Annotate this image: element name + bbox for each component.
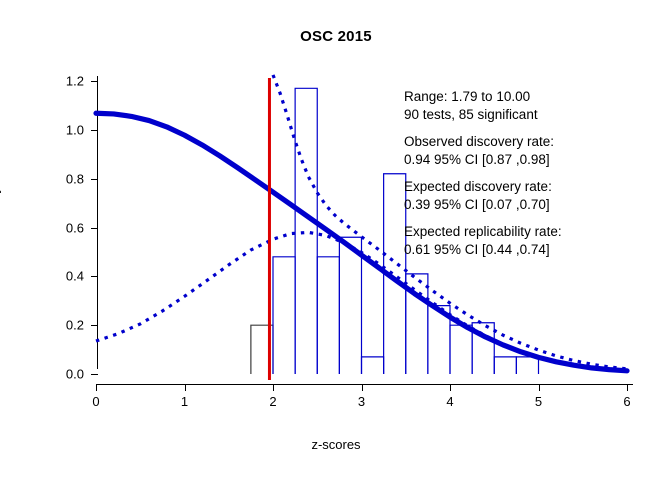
histogram-bar bbox=[494, 357, 516, 374]
annotation-line: 90 tests, 85 significant bbox=[404, 106, 654, 124]
histogram-bar bbox=[339, 237, 361, 374]
histogram-bar bbox=[516, 357, 538, 374]
x-tick-label: 1 bbox=[165, 394, 205, 409]
x-tick bbox=[539, 384, 540, 391]
histogram-bar bbox=[362, 357, 384, 374]
annotation-line: 0.61 95% CI [0.44 ,0.74] bbox=[404, 241, 654, 259]
annotation-line: 0.94 95% CI [0.87 ,0.98] bbox=[404, 151, 654, 169]
x-tick bbox=[185, 384, 186, 391]
y-tick-label: 1.2 bbox=[38, 74, 84, 89]
x-tick-label: 3 bbox=[342, 394, 382, 409]
x-tick-label: 2 bbox=[253, 394, 293, 409]
y-tick-label: 0.4 bbox=[38, 269, 84, 284]
x-tick bbox=[450, 384, 451, 391]
x-tick-label: 5 bbox=[519, 394, 559, 409]
x-tick-label: 0 bbox=[76, 394, 116, 409]
histogram-bar bbox=[317, 257, 339, 374]
annotation-line: Observed discovery rate: bbox=[404, 133, 654, 151]
annotation-line: Range: 1.79 to 10.00 bbox=[404, 88, 654, 106]
x-tick-label: 6 bbox=[607, 394, 647, 409]
chart-title: OSC 2015 bbox=[0, 28, 672, 45]
histogram-bar bbox=[450, 325, 472, 374]
annotation-line: Expected replicability rate: bbox=[404, 223, 654, 241]
annotation-line: 0.39 95% CI [0.07 ,0.70] bbox=[404, 196, 654, 214]
annotation-line: Expected discovery rate: bbox=[404, 178, 654, 196]
annotation-paragraph: Range: 1.79 to 10.0090 tests, 85 signifi… bbox=[404, 88, 654, 123]
x-axis-label: z-scores bbox=[0, 437, 672, 452]
x-tick bbox=[96, 384, 97, 391]
histogram-bar bbox=[295, 88, 317, 374]
x-tick bbox=[362, 384, 363, 391]
x-tick bbox=[273, 384, 274, 391]
x-axis-line bbox=[96, 384, 633, 385]
histogram-bar bbox=[273, 257, 295, 374]
y-tick-label: 1.0 bbox=[38, 122, 84, 137]
annotation-paragraph: Observed discovery rate:0.94 95% CI [0.8… bbox=[404, 133, 654, 168]
y-tick-label: 0.0 bbox=[38, 367, 84, 382]
y-tick-label: 0.6 bbox=[38, 220, 84, 235]
x-tick bbox=[627, 384, 628, 391]
x-tick-label: 4 bbox=[430, 394, 470, 409]
annotation-paragraph: Expected replicability rate:0.61 95% CI … bbox=[404, 223, 654, 258]
y-tick-label: 0.8 bbox=[38, 171, 84, 186]
y-axis-label: Density bbox=[0, 187, 2, 230]
y-tick-label: 0.2 bbox=[38, 318, 84, 333]
x-axis: 0123456 bbox=[91, 374, 632, 388]
annotation-paragraph: Expected discovery rate:0.39 95% CI [0.0… bbox=[404, 178, 654, 213]
statistics-annotations: Range: 1.79 to 10.0090 tests, 85 signifi… bbox=[404, 88, 654, 258]
